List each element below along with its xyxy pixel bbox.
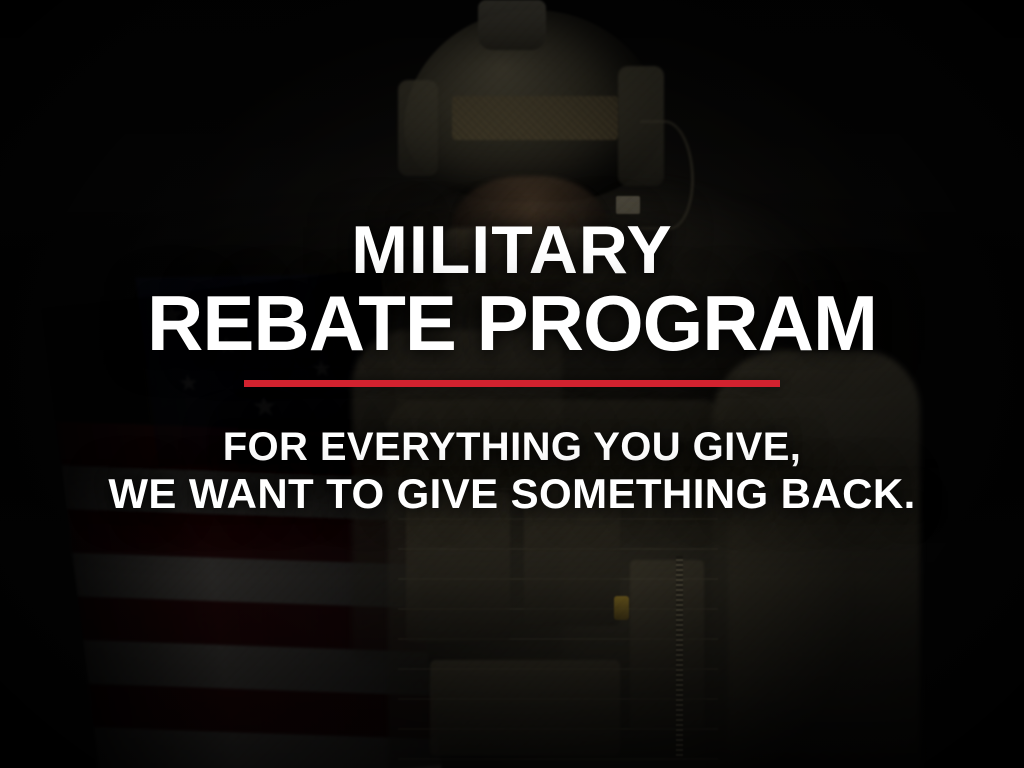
red-divider-rule bbox=[244, 380, 780, 387]
page-subtitle: FOR EVERYTHING YOU GIVE, WE WANT TO GIVE… bbox=[108, 425, 915, 518]
subheadline-line-1: FOR EVERYTHING YOU GIVE, bbox=[108, 425, 915, 471]
military-rebate-banner: ★ ★ ★ ★ ★ ★ bbox=[0, 0, 1024, 768]
text-overlay: MILITARY REBATE PROGRAM FOR EVERYTHING Y… bbox=[0, 0, 1024, 768]
subheadline-line-2: WE WANT TO GIVE SOMETHING BACK. bbox=[108, 470, 915, 518]
headline-line-2: REBATE PROGRAM bbox=[147, 286, 877, 362]
headline-line-1: MILITARY bbox=[147, 218, 877, 284]
page-title: MILITARY REBATE PROGRAM bbox=[147, 218, 877, 362]
